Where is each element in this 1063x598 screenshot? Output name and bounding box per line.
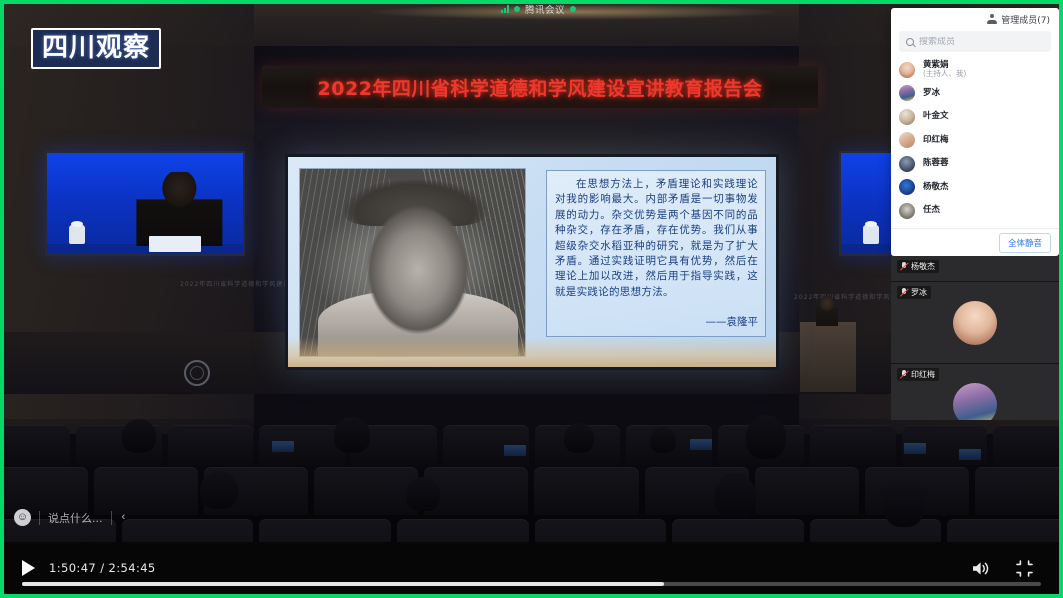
- member-list-item[interactable]: 罗冰: [899, 82, 1051, 106]
- audience-seat: [534, 467, 638, 515]
- video-progress-played: [22, 582, 664, 586]
- fullscreen-exit-icon[interactable]: [1016, 560, 1033, 577]
- chevron-left-icon[interactable]: ‹: [120, 512, 128, 523]
- channel-logo-text: 四川观察: [42, 35, 150, 61]
- presentation-slide: 在思想方法上，矛盾理论和实践理论对我的影响最大。内部矛盾是一切事物发展的动力。杂…: [288, 157, 776, 367]
- avatar: [899, 85, 915, 101]
- side-screen-left-speaker: [136, 172, 222, 246]
- audience-laptop: [272, 441, 294, 452]
- member-list[interactable]: 黄紫娟 (主持人、我) 罗冰 叶金文 印红梅: [891, 58, 1059, 228]
- audience-seat: [168, 425, 254, 465]
- time-display: 1:50:47 / 2:54:45: [49, 561, 156, 575]
- side-screen-left-nameplate: [149, 236, 201, 252]
- member-list-item[interactable]: 陈蓉蓉: [899, 152, 1051, 176]
- member-list-item[interactable]: 杨敬杰: [899, 176, 1051, 200]
- participant-label: 杨敬杰: [897, 260, 939, 273]
- avatar: [899, 109, 915, 125]
- participant-video-column[interactable]: 杨敬杰 罗冰 印红梅: [891, 256, 1059, 420]
- audience-head: [746, 415, 786, 459]
- search-icon: [906, 38, 914, 46]
- audience-seat: [424, 467, 528, 515]
- mic-muted-icon: [900, 262, 908, 271]
- play-icon[interactable]: [22, 560, 35, 576]
- stage-podium: [800, 322, 856, 392]
- player-right-controls: [971, 560, 1059, 577]
- avatar: [899, 132, 915, 148]
- slide-quote-signature: ——袁隆平: [555, 314, 758, 329]
- emoji-smiley-icon[interactable]: ☺: [14, 509, 31, 526]
- green-status-dot-secondary: [570, 6, 576, 12]
- member-name: 印红梅: [923, 136, 949, 145]
- side-screen-left-teacup: [69, 225, 85, 244]
- slide-wheat-decoration: [288, 337, 776, 367]
- member-name: 罗冰: [923, 89, 940, 98]
- participant-video-tile[interactable]: 杨敬杰: [891, 256, 1059, 282]
- main-projection-screen: 在思想方法上，矛盾理论和实践理论对我的影响最大。内部矛盾是一切事物发展的动力。杂…: [285, 154, 779, 370]
- member-management-panel[interactable]: 管理成员(7) 黄紫娟 (主持人、我) 罗冰: [891, 8, 1059, 256]
- member-name: 任杰: [923, 206, 940, 215]
- avatar: [953, 301, 997, 345]
- audience-head: [564, 423, 594, 453]
- slide-quote-area: 在思想方法上，矛盾理论和实践理论对我的影响最大。内部矛盾是一切事物发展的动力。杂…: [534, 157, 776, 367]
- side-screen-left: [45, 151, 245, 256]
- participant-video-tile[interactable]: 印红梅: [891, 364, 1059, 420]
- audience-seat: [975, 467, 1059, 515]
- event-banner-title: 2022年四川省科学道德和学风建设宣讲教育报告会: [318, 74, 763, 101]
- mute-all-button[interactable]: 全体静音: [999, 233, 1051, 253]
- member-search-input[interactable]: [919, 37, 1044, 47]
- member-role: (主持人、我): [923, 70, 966, 78]
- audience-laptop: [504, 445, 526, 456]
- audience-head: [406, 477, 440, 511]
- avatar: [899, 62, 915, 78]
- audience-seat: [94, 467, 198, 515]
- player-control-bar: 1:50:47 / 2:54:45: [4, 542, 1059, 594]
- audience-head: [650, 427, 676, 453]
- audience-head: [122, 419, 156, 453]
- member-list-item[interactable]: 印红梅: [899, 129, 1051, 153]
- mic-muted-icon: [900, 370, 908, 379]
- member-panel-title: 管理成员(7): [1001, 13, 1050, 26]
- video-player-page: 四川观察 2022年四川省科学道德和学风建设宣讲教育报告会: [0, 0, 1063, 598]
- wall-emblem-left: [184, 360, 210, 386]
- participant-video-tile[interactable]: 罗冰: [891, 282, 1059, 364]
- slide-quote-text: 在思想方法上，矛盾理论和实践理论对我的影响最大。内部矛盾是一切事物发展的动力。杂…: [555, 177, 758, 300]
- member-name: 叶金文: [923, 112, 949, 121]
- portrait-face: [359, 199, 477, 341]
- audience-seat: [810, 425, 896, 465]
- avatar: [899, 156, 915, 172]
- side-screen-right-teacup: [863, 225, 879, 244]
- audience-head: [334, 417, 370, 453]
- member-search-box[interactable]: [899, 31, 1051, 52]
- audience-laptop: [690, 439, 712, 450]
- audience-laptop: [959, 449, 981, 460]
- audience-head: [884, 483, 924, 527]
- chat-input-bar[interactable]: ☺ 说点什么... ‹: [14, 509, 127, 526]
- participant-label: 罗冰: [897, 286, 931, 299]
- participant-name: 杨敬杰: [911, 261, 935, 272]
- audience-seat: [4, 467, 88, 515]
- people-icon: [987, 14, 997, 24]
- audience-laptop: [904, 443, 926, 454]
- participant-name: 印红梅: [911, 369, 935, 380]
- chat-divider: [39, 511, 40, 525]
- channel-logo: 四川观察: [31, 28, 161, 69]
- audience-head: [200, 471, 238, 509]
- portrait-photo: [299, 168, 526, 357]
- podium-speaker: [816, 296, 838, 326]
- chat-divider: [111, 511, 112, 525]
- volume-icon[interactable]: [971, 560, 990, 577]
- audience-seat: [314, 467, 418, 515]
- member-list-item[interactable]: 任杰: [899, 199, 1051, 223]
- member-list-item[interactable]: 叶金文: [899, 105, 1051, 129]
- member-name: 陈蓉蓉: [923, 159, 949, 168]
- member-list-item[interactable]: 黄紫娟 (主持人、我): [899, 58, 1051, 82]
- member-name: 杨敬杰: [923, 183, 949, 192]
- avatar: [953, 383, 997, 421]
- avatar: [899, 203, 915, 219]
- meeting-app-name: 腾讯会议: [525, 2, 565, 16]
- audience-row-1: [4, 425, 1059, 465]
- meeting-status-pill: 腾讯会议: [497, 1, 580, 17]
- event-banner: 2022年四川省科学道德和学风建设宣讲教育报告会: [262, 66, 818, 108]
- video-progress-bar[interactable]: [22, 582, 1041, 586]
- slide-quote-box: 在思想方法上，矛盾理论和实践理论对我的影响最大。内部矛盾是一切事物发展的动力。杂…: [546, 170, 766, 337]
- member-panel-header: 管理成员(7): [891, 8, 1059, 30]
- audience-seat: [993, 425, 1059, 465]
- slide-portrait-area: [288, 157, 534, 367]
- member-panel-footer: 全体静音: [891, 228, 1059, 256]
- mic-muted-icon: [900, 288, 908, 297]
- audience-seat: [4, 425, 70, 465]
- signal-bars-icon: [501, 5, 509, 13]
- participant-name: 罗冰: [911, 287, 927, 298]
- audience-seat: [755, 467, 859, 515]
- player-left-controls: 1:50:47 / 2:54:45: [4, 560, 156, 576]
- audience-head: [714, 473, 756, 519]
- avatar: [899, 179, 915, 195]
- participant-label: 印红梅: [897, 368, 939, 381]
- chat-input[interactable]: 说点什么...: [48, 510, 103, 526]
- green-status-dot: [514, 6, 520, 12]
